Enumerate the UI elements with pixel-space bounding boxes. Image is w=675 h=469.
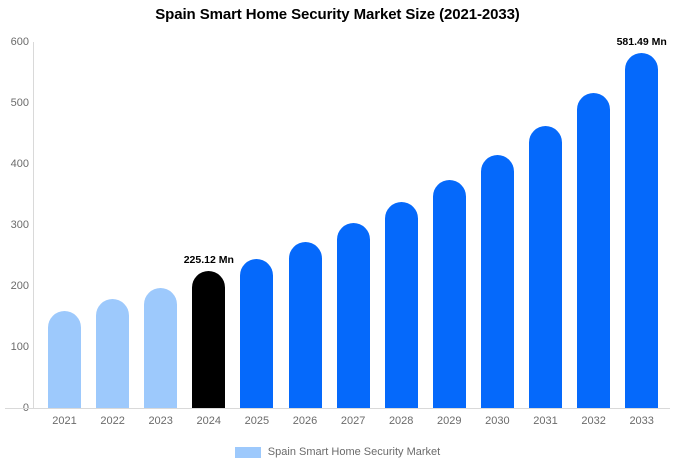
bar-slot <box>144 42 177 408</box>
bar-2027[interactable] <box>337 223 370 408</box>
bar-slot: 225.12 Mn <box>192 42 225 408</box>
chart-container: Spain Smart Home Security Market Size (2… <box>0 0 675 469</box>
bar-slot <box>337 42 370 408</box>
bar-slot <box>48 42 81 408</box>
bar-2030[interactable] <box>481 155 514 408</box>
bar-2028[interactable] <box>385 202 418 408</box>
bar-value-label-2024: 225.12 Mn <box>184 254 234 266</box>
chart-title: Spain Smart Home Security Market Size (2… <box>0 6 675 23</box>
bar-2021[interactable] <box>48 311 81 408</box>
bar-2026[interactable] <box>289 242 322 408</box>
bar-2031[interactable] <box>529 126 562 408</box>
bar-2025[interactable] <box>240 259 273 408</box>
bar-slot: 581.49 Mn <box>625 42 658 408</box>
bar-slot <box>481 42 514 408</box>
bar-2022[interactable] <box>96 299 129 408</box>
legend-label: Spain Smart Home Security Market <box>268 446 440 458</box>
bar-slot <box>240 42 273 408</box>
bar-2024[interactable] <box>192 271 225 408</box>
y-axis-tick-labels: 6005004003002001000 <box>0 0 29 469</box>
y-axis-tick: 600 <box>3 36 29 48</box>
bar-2029[interactable] <box>433 180 466 408</box>
y-axis-tick: 200 <box>3 280 29 292</box>
y-axis-tick: 500 <box>3 97 29 109</box>
bar-slot <box>529 42 562 408</box>
plot-area: 225.12 Mn581.49 Mn <box>33 42 670 408</box>
y-axis-tick: 100 <box>3 341 29 353</box>
bar-2033[interactable] <box>625 53 658 408</box>
y-axis-tick: 400 <box>3 158 29 170</box>
bar-slot <box>385 42 418 408</box>
chart-legend: Spain Smart Home Security Market <box>0 446 675 458</box>
bar-slot <box>289 42 322 408</box>
bar-slot <box>433 42 466 408</box>
bar-slot <box>96 42 129 408</box>
bar-2032[interactable] <box>577 93 610 408</box>
x-axis-tick-2033: 2033 <box>612 415 672 427</box>
x-axis-line <box>5 408 670 409</box>
bar-2023[interactable] <box>144 288 177 408</box>
bar-slot <box>577 42 610 408</box>
y-axis-tick: 300 <box>3 219 29 231</box>
bar-value-label-2033: 581.49 Mn <box>617 36 667 48</box>
legend-swatch-icon <box>235 447 261 458</box>
